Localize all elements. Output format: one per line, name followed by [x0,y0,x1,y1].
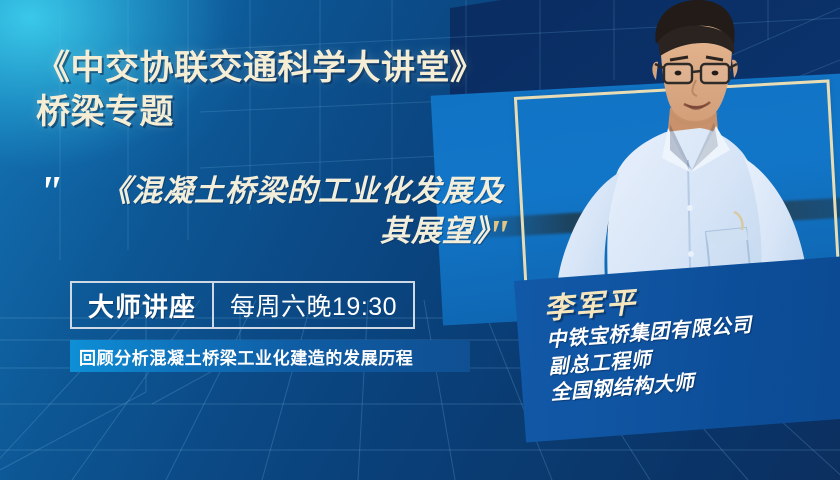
schedule-time: 每周六晚19:30 [214,283,413,327]
speaker-plate: 李军平 中铁宝桥集团有限公司 副总工程师 全国钢结构大师 [514,256,840,443]
schedule-box: 大师讲座 每周六晚19:30 [70,281,415,329]
poster-canvas: 《中交协联交通科学大讲堂》 桥梁专题 " 《混凝土桥梁的工业化发展及其展望》 "… [0,0,840,480]
quote-open-icon: " [38,170,62,214]
lecture-title: 《混凝土桥梁的工业化发展及其展望》 [84,172,504,251]
headline-line-1: 《中交协联交通科学大讲堂》 [36,47,536,91]
page-title: 《中交协联交通科学大讲堂》 桥梁专题 [36,47,536,134]
headline-line-2: 桥梁专题 [36,91,536,135]
lecture-title-block: " 《混凝土桥梁的工业化发展及其展望》 " [36,168,536,268]
quote-close-icon: " [486,214,510,258]
tagline-bar: 回顾分析混凝土桥梁工业化建造的发展历程 [70,340,470,372]
schedule-label: 大师讲座 [72,283,214,327]
tagline-text: 回顾分析混凝土桥梁工业化建造的发展历程 [79,344,413,369]
